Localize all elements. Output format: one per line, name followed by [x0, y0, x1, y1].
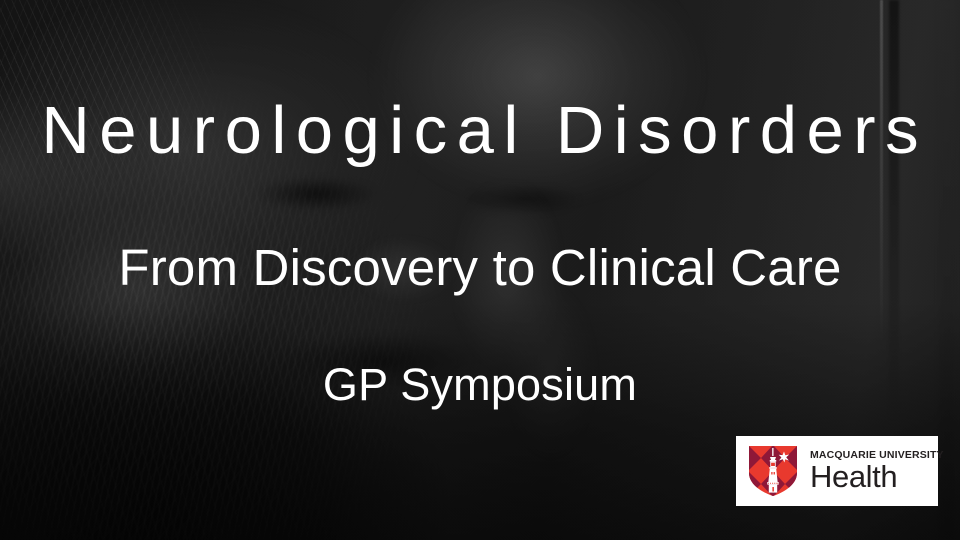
- page-title: Neurological Disorders: [0, 96, 960, 166]
- macquarie-university-health-logo: MACQUARIE UNIVERSITY Health: [736, 436, 938, 506]
- presentation-slide: Neurological Disorders From Discovery to…: [0, 0, 960, 540]
- logo-wordmark: MACQUARIE UNIVERSITY Health: [810, 450, 944, 493]
- logo-division-name: Health: [810, 461, 944, 492]
- slide-event-name: GP Symposium: [0, 360, 960, 410]
- macquarie-shield-lighthouse-icon: [748, 445, 798, 497]
- slide-subtitle: From Discovery to Clinical Care: [0, 240, 960, 296]
